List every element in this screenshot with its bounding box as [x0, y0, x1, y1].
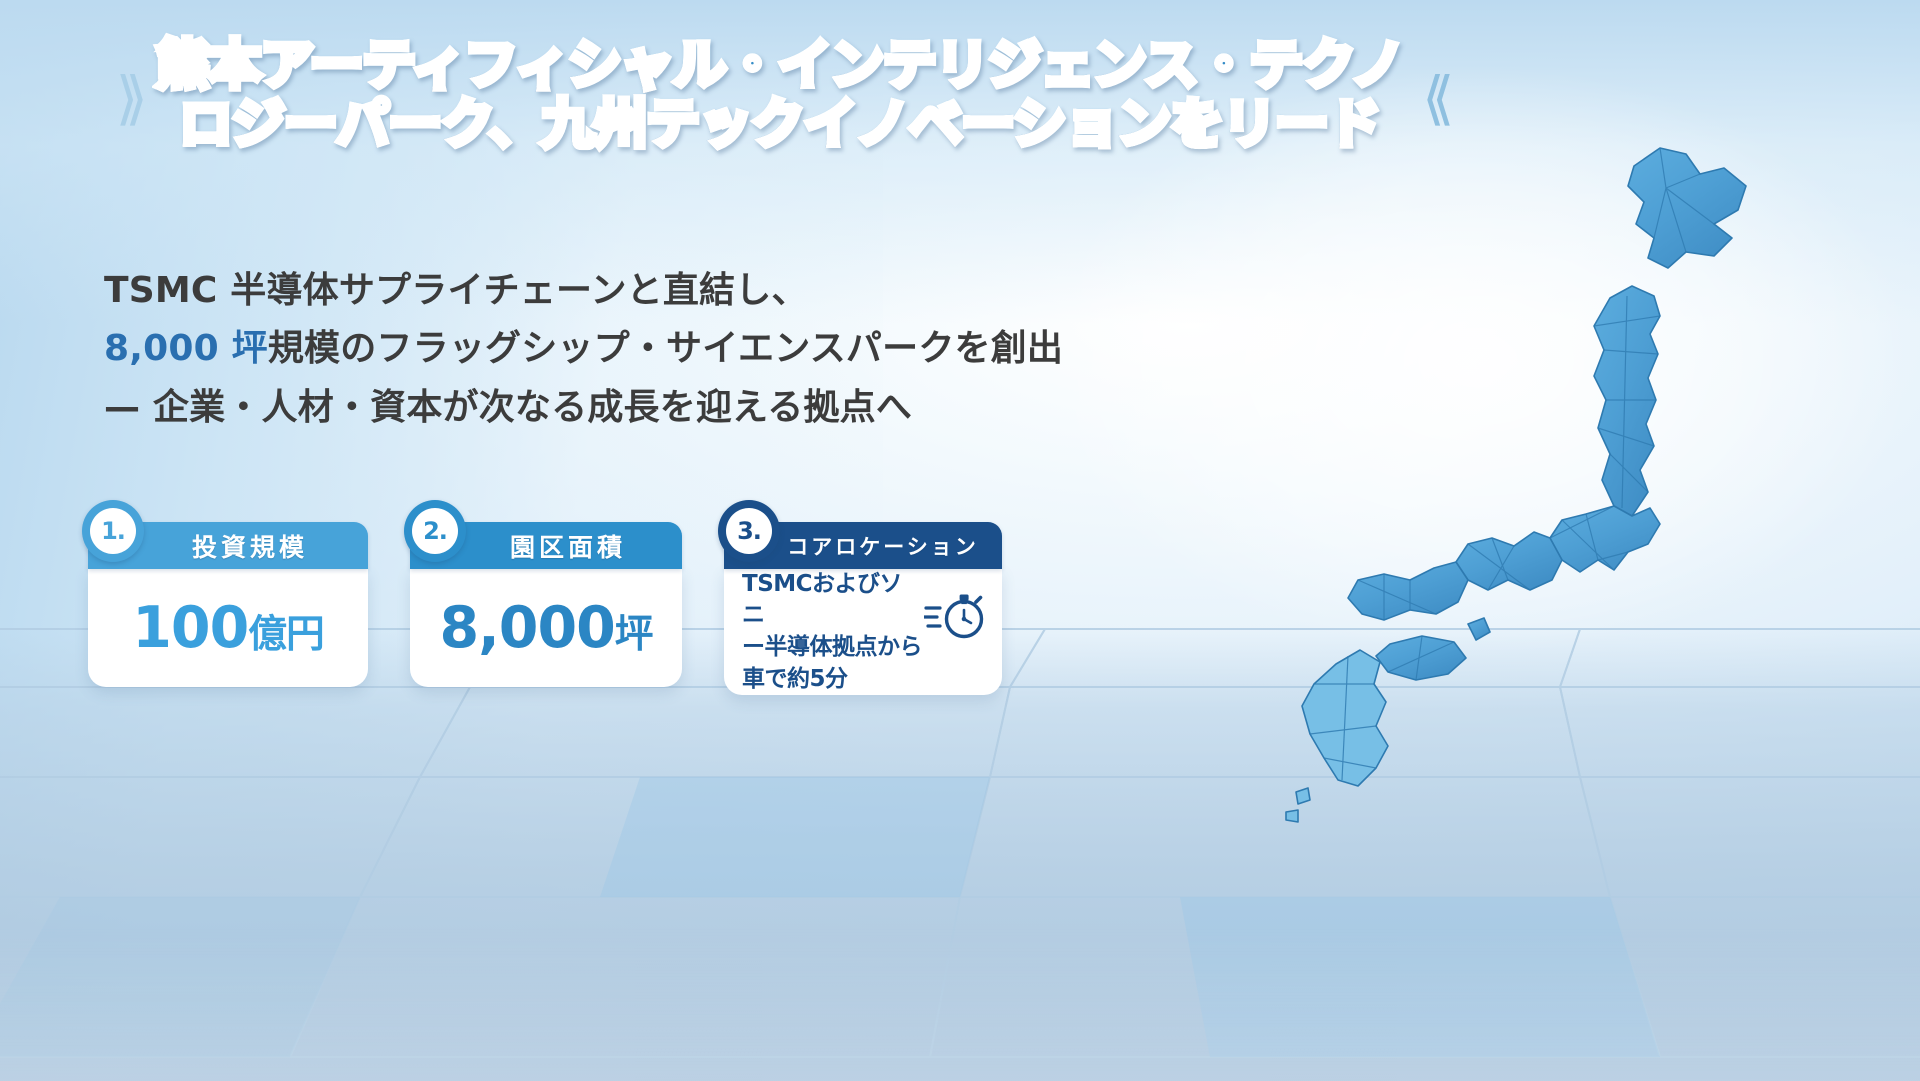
- card-text-3-line1: TSMCおよびソニ: [742, 569, 924, 632]
- stat-card-area[interactable]: 2. 園区面積 8,000坪: [410, 522, 682, 687]
- card-number-1: 1.: [90, 508, 136, 554]
- card-header-area: 2. 園区面積: [410, 522, 682, 569]
- body-line-2-accent: 8,000 坪: [104, 328, 268, 369]
- japan-map: [1262, 128, 1902, 888]
- chevron-left-decoration: ⟫: [116, 70, 138, 128]
- body-copy: TSMC 半導体サプライチェーンと直結し、 8,000 坪規模のフラッグシップ・…: [104, 262, 1084, 437]
- card-value-unit-1: 億円: [248, 612, 324, 657]
- card-header-colocation: 3. コアロケーション: [724, 522, 1002, 569]
- chevron-right-decoration: ⟪: [1422, 70, 1444, 128]
- card-number-badge-2: 2.: [404, 500, 466, 562]
- stat-cards: 1. 投資規模 100億円 2. 園区面積 8,000坪: [88, 522, 1002, 695]
- card-text-3-line2: ー半導体拠点から: [742, 632, 924, 664]
- card-text-3: TSMCおよびソニ ー半導体拠点から 車で約5分: [742, 569, 924, 696]
- card-header-label-1: 投資規模: [138, 528, 318, 564]
- card-number-2: 2.: [412, 508, 458, 554]
- card-body-2: 8,000坪: [410, 569, 682, 687]
- body-line-1: TSMC 半導体サプライチェーンと直結し、: [104, 262, 1084, 320]
- body-line-2-rest: 規模のフラッグシップ・サイエンスパークを創出: [268, 328, 1063, 369]
- card-body-inner-3: TSMCおよびソニ ー半導体拠点から 車で約5分: [724, 559, 1002, 706]
- card-number-3: 3.: [726, 508, 772, 554]
- card-body-1: 100億円: [88, 569, 368, 687]
- card-header-investment: 1. 投資規模: [88, 522, 368, 569]
- title-lines: 熊本アーティフィシャル・インテリジェンス・テクノ ロジーパーク、九州テックイノベ…: [156, 36, 1404, 155]
- card-value-number-2: 8,000: [439, 595, 614, 661]
- card-value-number-1: 100: [132, 595, 248, 661]
- stat-card-colocation[interactable]: 3. コアロケーション TSMCおよびソニ ー半導体拠点から 車で約5分: [724, 522, 1002, 695]
- card-value-1: 100億円: [132, 595, 323, 661]
- card-body-3: TSMCおよびソニ ー半導体拠点から 車で約5分: [724, 569, 1002, 695]
- card-text-3-line3: 車で約5分: [742, 664, 924, 696]
- stopwatch-icon: [924, 586, 988, 653]
- body-line-2: 8,000 坪規模のフラッグシップ・サイエンスパークを創出: [104, 320, 1084, 378]
- stat-card-investment[interactable]: 1. 投資規模 100億円: [88, 522, 368, 687]
- infographic-canvas: ⟫ 熊本アーティフィシャル・インテリジェンス・テクノ ロジーパーク、九州テックイ…: [0, 0, 1920, 1081]
- card-value-unit-2: 坪: [615, 612, 653, 657]
- page-title-line2: ロジーパーク、九州テックイノベーションをリード: [156, 95, 1404, 154]
- body-line-3: — 企業・人材・資本が次なる成長を迎える拠点へ: [104, 379, 1084, 437]
- page-title-line1: 熊本アーティフィシャル・インテリジェンス・テクノ: [156, 36, 1404, 95]
- card-number-badge-3: 3.: [718, 500, 780, 562]
- card-value-2: 8,000坪: [439, 595, 652, 661]
- card-number-badge-1: 1.: [82, 500, 144, 562]
- card-header-label-2: 園区面積: [456, 528, 636, 564]
